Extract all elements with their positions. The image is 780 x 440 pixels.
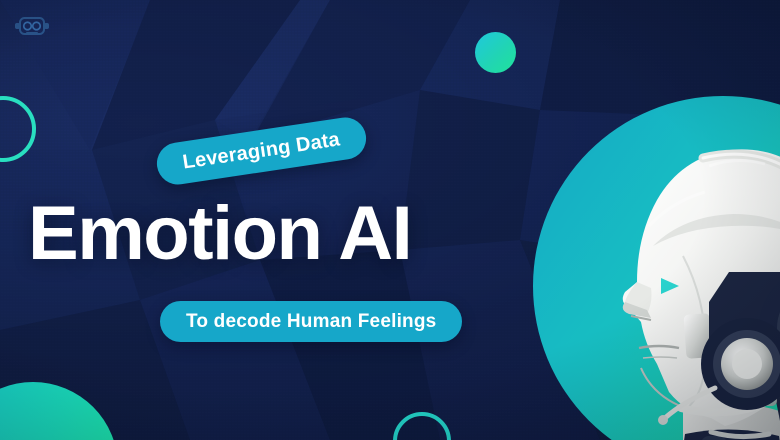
- gradient-dot-top: [475, 32, 516, 73]
- poster-canvas: Leveraging Data Emotion AI To decode Hum…: [0, 0, 780, 440]
- robot-image: [533, 96, 780, 440]
- robot-head-icon[interactable]: [15, 13, 49, 39]
- robot-head-profile-illustration: [533, 96, 780, 440]
- page-title: Emotion AI: [28, 196, 411, 272]
- subtitle-badge[interactable]: To decode Human Feelings: [160, 301, 462, 342]
